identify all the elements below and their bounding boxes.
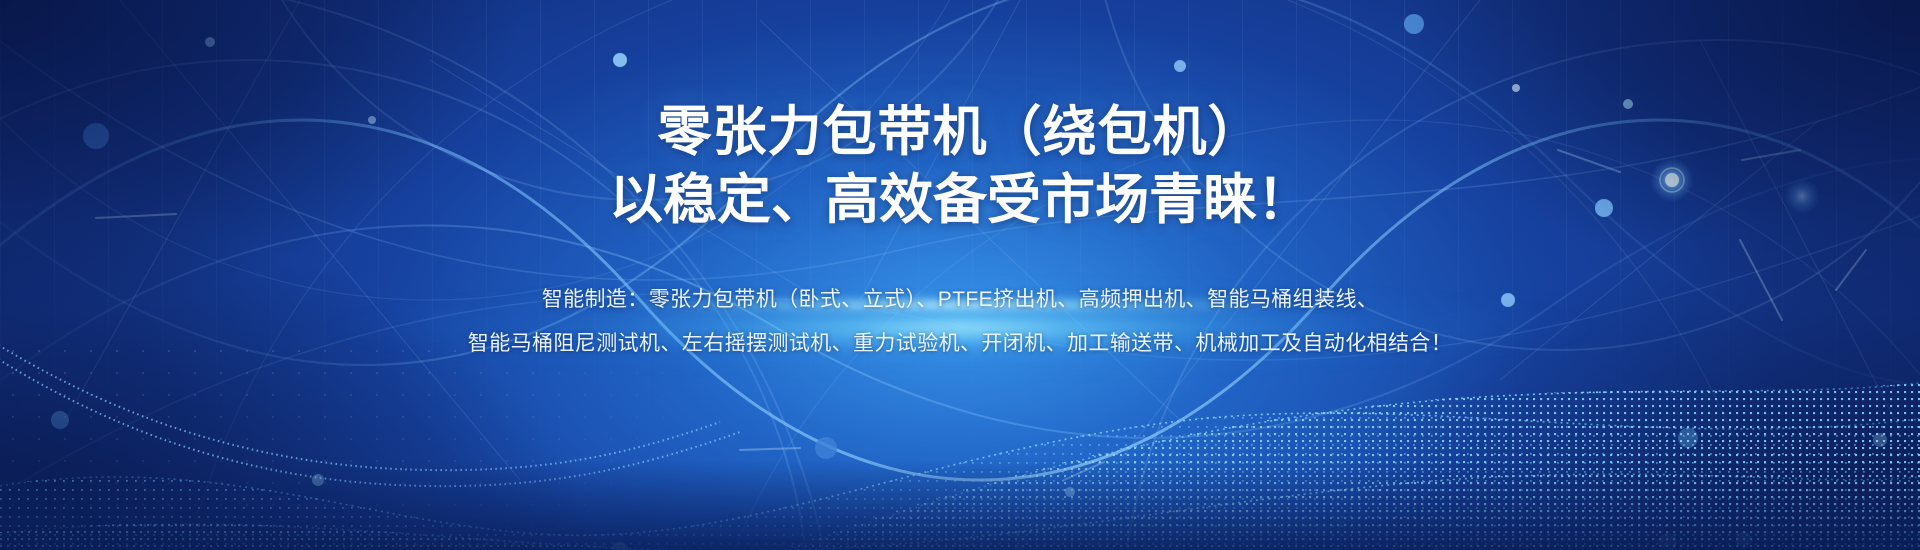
arc-group-faint (0, 0, 1920, 550)
arc-group (0, 0, 1920, 550)
node-dot-group (51, 14, 1887, 550)
background-network-graphic (0, 0, 1920, 550)
hero-banner: 零张力包带机（绕包机） 以稳定、高效备受市场青睐！ 智能制造：零张力包带机（卧式… (0, 0, 1920, 550)
connector-lines (60, 0, 1900, 480)
